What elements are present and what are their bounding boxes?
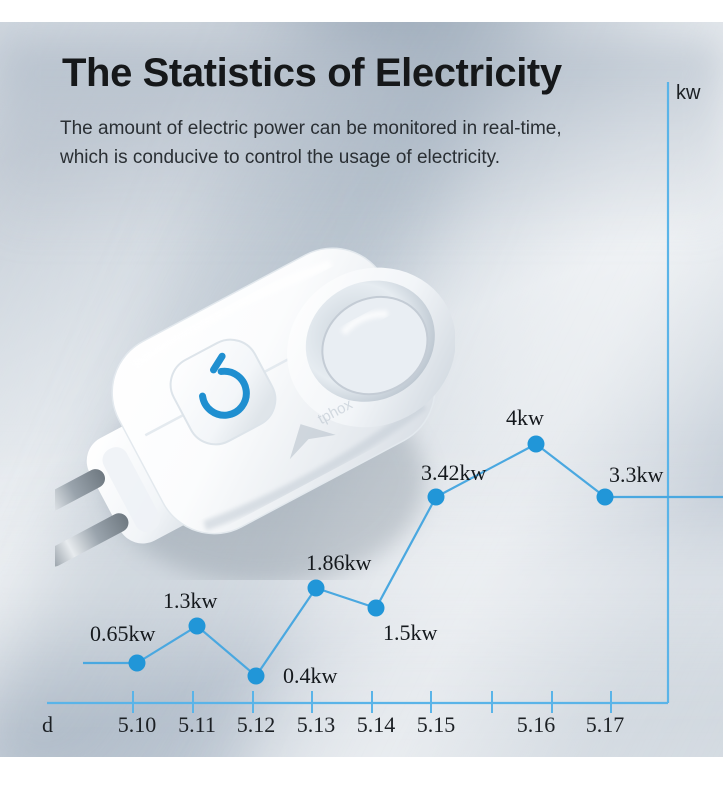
x-axis-label-5.17: 5.17 xyxy=(586,712,625,737)
data-point-label-5.17: 3.3kw xyxy=(609,462,664,487)
y-axis-unit-label: kw xyxy=(676,82,701,104)
x-axis-label-5.10: 5.10 xyxy=(118,712,157,737)
data-point-5.17[interactable] xyxy=(597,489,614,506)
x-axis-unit-label: d xyxy=(42,712,53,737)
data-point-5.13[interactable] xyxy=(308,580,325,597)
data-point-label-5.12: 0.4kw xyxy=(283,663,338,688)
data-point-5.15[interactable] xyxy=(428,489,445,506)
data-point-label-5.16: 4kw xyxy=(506,405,544,430)
x-axis-label-5.16: 5.16 xyxy=(517,712,556,737)
data-point-label-5.11: 1.3kw xyxy=(163,588,218,613)
data-point-label-5.14: 1.5kw xyxy=(383,620,438,645)
x-axis-label-5.11: 5.11 xyxy=(178,712,216,737)
data-point-5.16[interactable] xyxy=(528,436,545,453)
x-axis-label-5.14: 5.14 xyxy=(357,712,396,737)
data-point-label-5.10: 0.65kw xyxy=(90,621,156,646)
data-point-5.12[interactable] xyxy=(248,668,265,685)
poster-root: The Statistics of Electricity The amount… xyxy=(0,0,723,800)
data-point-5.11[interactable] xyxy=(189,618,206,635)
x-axis-label-5.13: 5.13 xyxy=(297,712,336,737)
data-point-5.10[interactable] xyxy=(129,655,146,672)
data-point-label-5.13: 1.86kw xyxy=(306,550,372,575)
electricity-line-chart: 5.105.115.125.135.145.155.165.17dkw0.65k… xyxy=(0,0,723,800)
x-axis-label-5.15: 5.15 xyxy=(417,712,456,737)
data-point-5.14[interactable] xyxy=(368,600,385,617)
x-axis-label-5.12: 5.12 xyxy=(237,712,276,737)
data-point-label-5.15: 3.42kw xyxy=(421,460,487,485)
